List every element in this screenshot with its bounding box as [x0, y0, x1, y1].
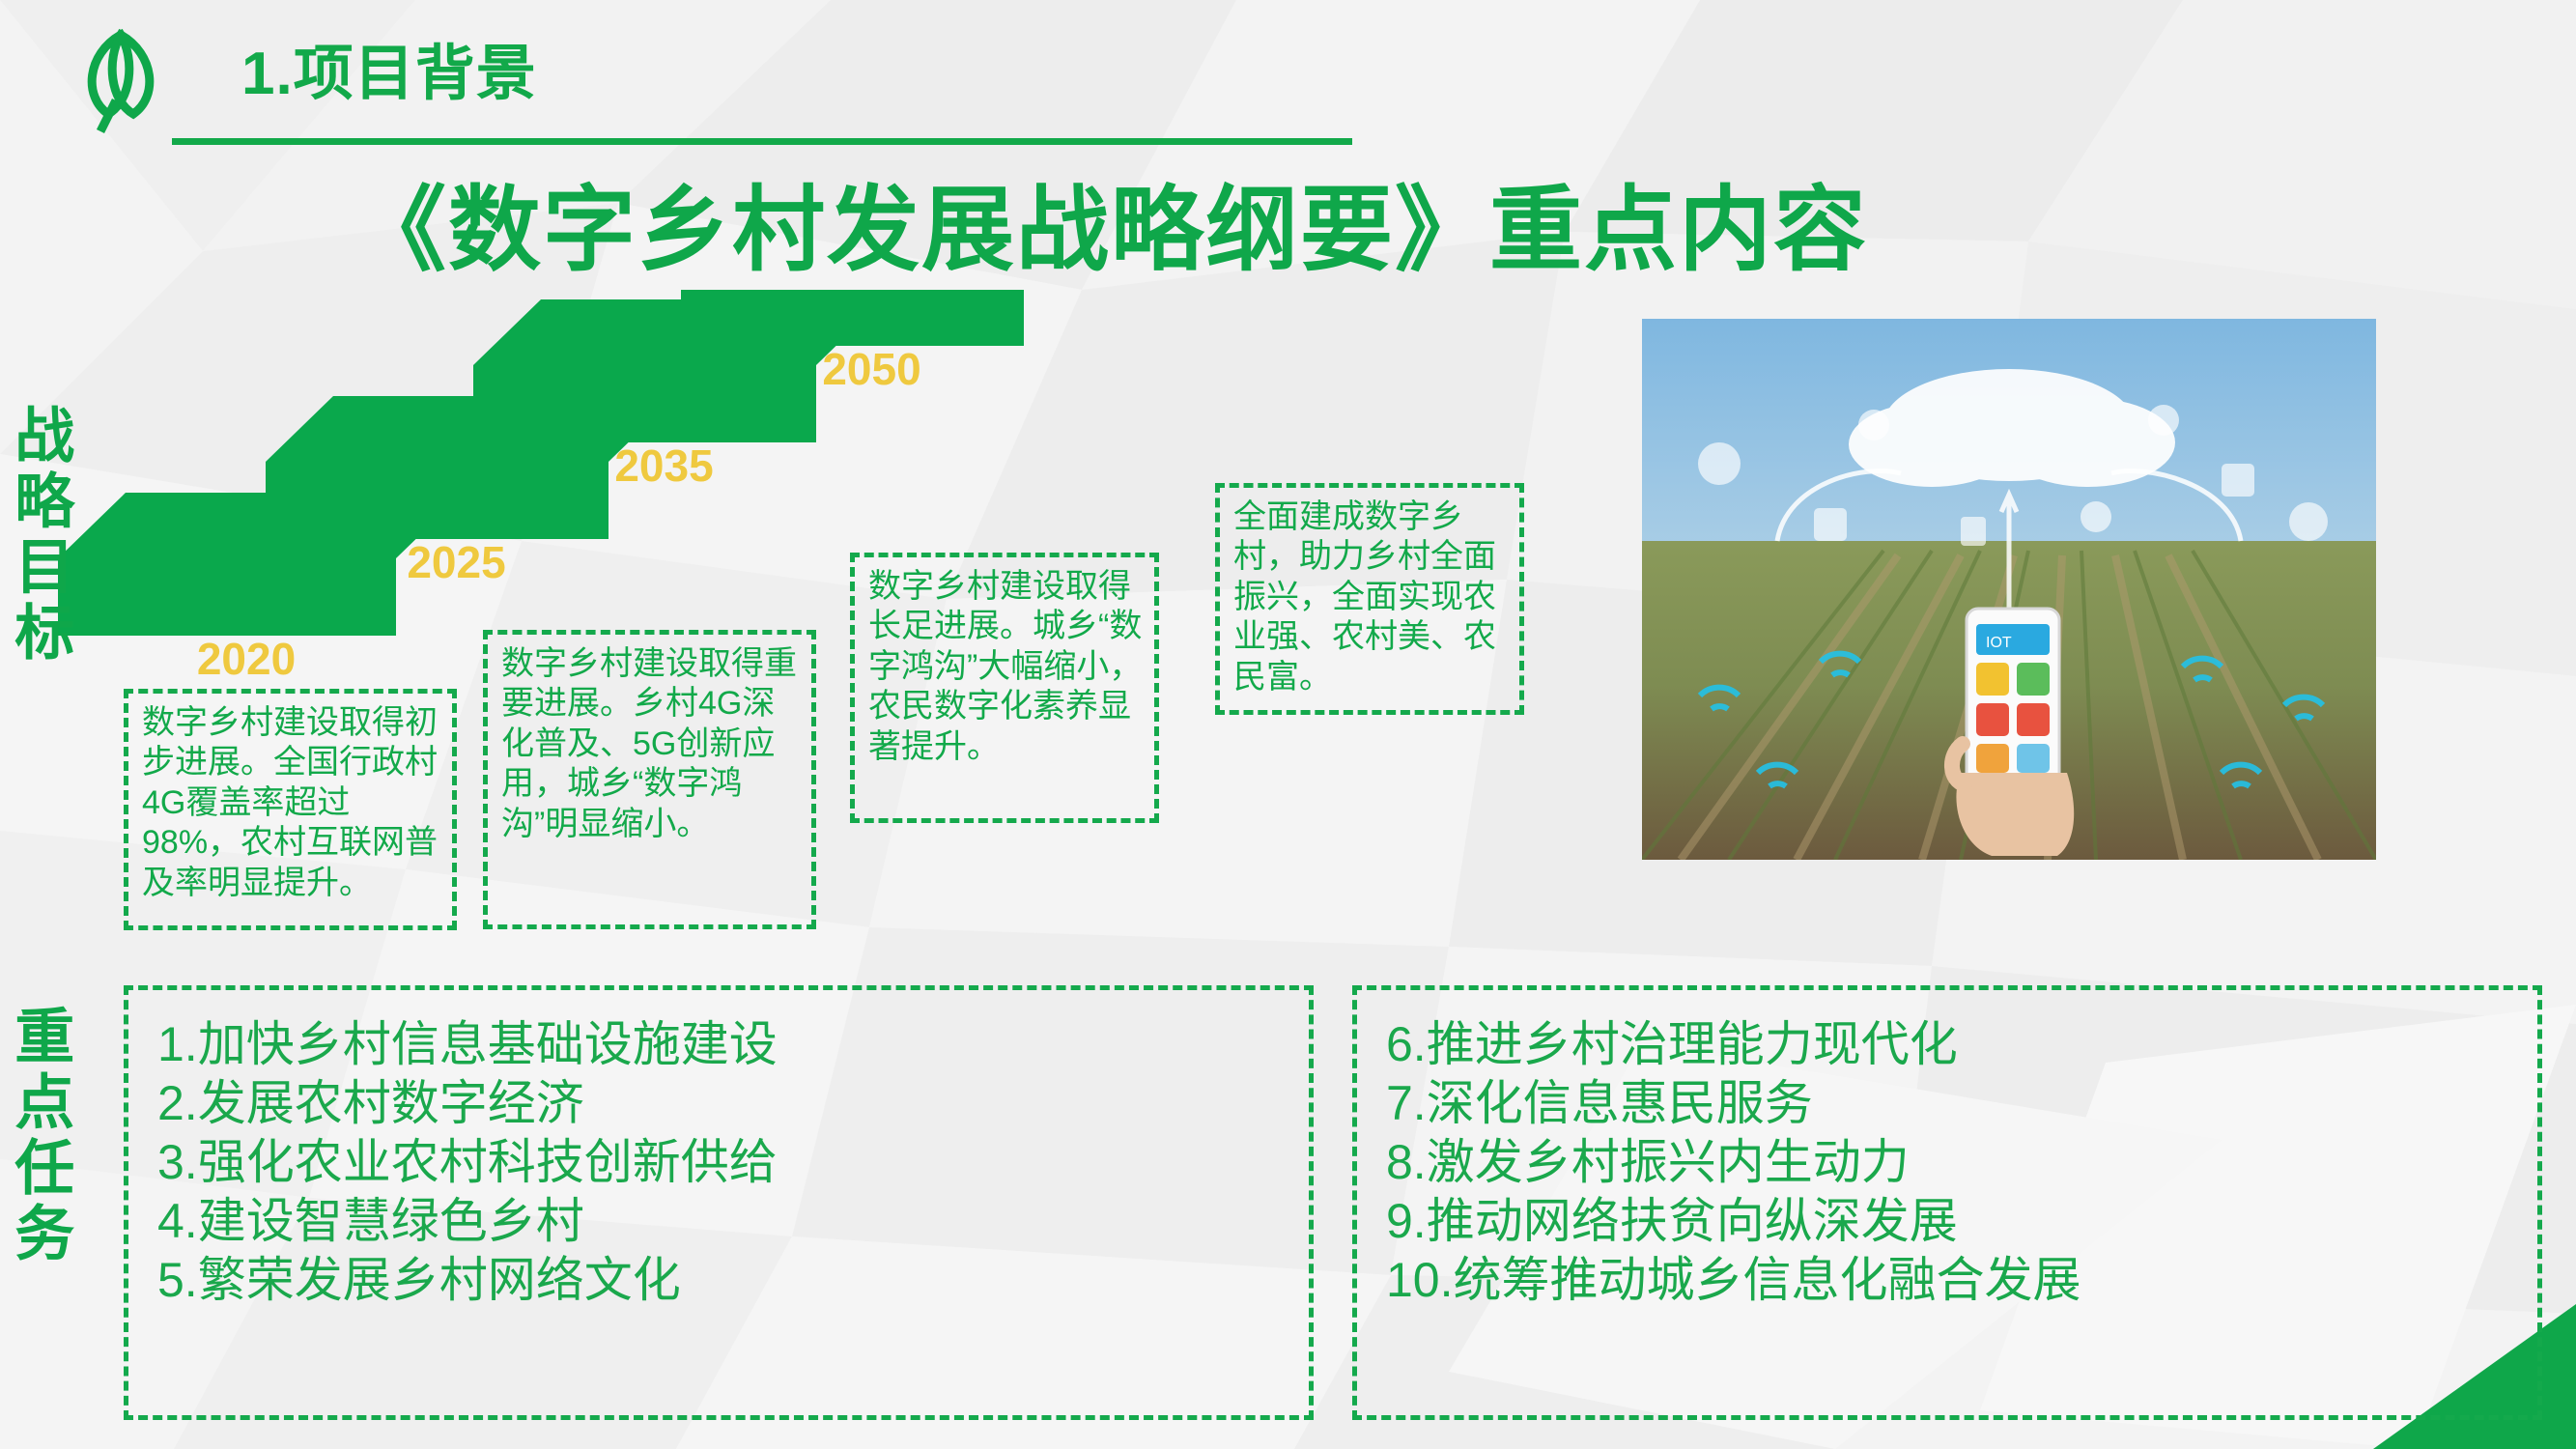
strategic-goals-label: 战略目标	[8, 404, 69, 819]
task-item: 8.激发乡村振兴内生动力	[1386, 1133, 2508, 1192]
roadmap-desc-2035: 数字乡村建设取得长足进展。城乡“数字鸿沟”大幅缩小，农民数字化素养显著提升。	[850, 553, 1159, 823]
task-item: 10.统筹推动城乡信息化融合发展	[1386, 1251, 2508, 1310]
task-item: 3.强化农业农村科技创新供给	[157, 1133, 1280, 1192]
page-title: 《数字乡村发展战略纲要》重点内容	[0, 155, 2222, 289]
roadmap-year-2020: 2020	[77, 633, 415, 685]
roadmap-year-2035: 2035	[493, 440, 835, 492]
task-item: 6.推进乡村治理能力现代化	[1386, 1015, 2508, 1074]
task-item: 1.加快乡村信息基础设施建设	[157, 1015, 1280, 1074]
leaf-icon	[68, 17, 174, 133]
roadmap-desc-2025: 数字乡村建设取得重要进展。乡村4G深化普及、5G创新应用，城乡“数字鸿沟”明显缩…	[483, 630, 816, 929]
page-section-title: 1.项目背景	[241, 24, 537, 111]
key-tasks-left-panel: 1.加快乡村信息基础设施建设 2.发展农村数字经济 3.强化农业农村科技创新供给…	[124, 985, 1314, 1420]
task-item: 9.推动网络扶贫向纵深发展	[1386, 1192, 2508, 1251]
task-item: 4.建设智慧绿色乡村	[157, 1192, 1280, 1251]
smart-agriculture-photo: IOT	[1642, 319, 2376, 860]
key-tasks-right-panel: 6.推进乡村治理能力现代化 7.深化信息惠民服务 8.激发乡村振兴内生动力 9.…	[1352, 985, 2542, 1420]
key-tasks-label: 重点任务	[8, 1005, 69, 1391]
task-item: 7.深化信息惠民服务	[1386, 1074, 2508, 1133]
roadmap-desc-2020: 数字乡村建设取得初步进展。全国行政村4G覆盖率超过98%，农村互联网普及率明显提…	[124, 689, 457, 930]
phone-iot-label: IOT	[1986, 635, 2012, 651]
task-item: 5.繁荣发展乡村网络文化	[157, 1251, 1280, 1310]
task-item: 2.发展农村数字经济	[157, 1074, 1280, 1133]
roadmap-year-2025: 2025	[285, 536, 628, 588]
header-divider	[172, 138, 1352, 145]
roadmap-year-2050: 2050	[700, 343, 1043, 395]
roadmap-desc-2050: 全面建成数字乡村，助力乡村全面振兴，全面实现农业强、农村美、农民富。	[1215, 483, 1524, 715]
